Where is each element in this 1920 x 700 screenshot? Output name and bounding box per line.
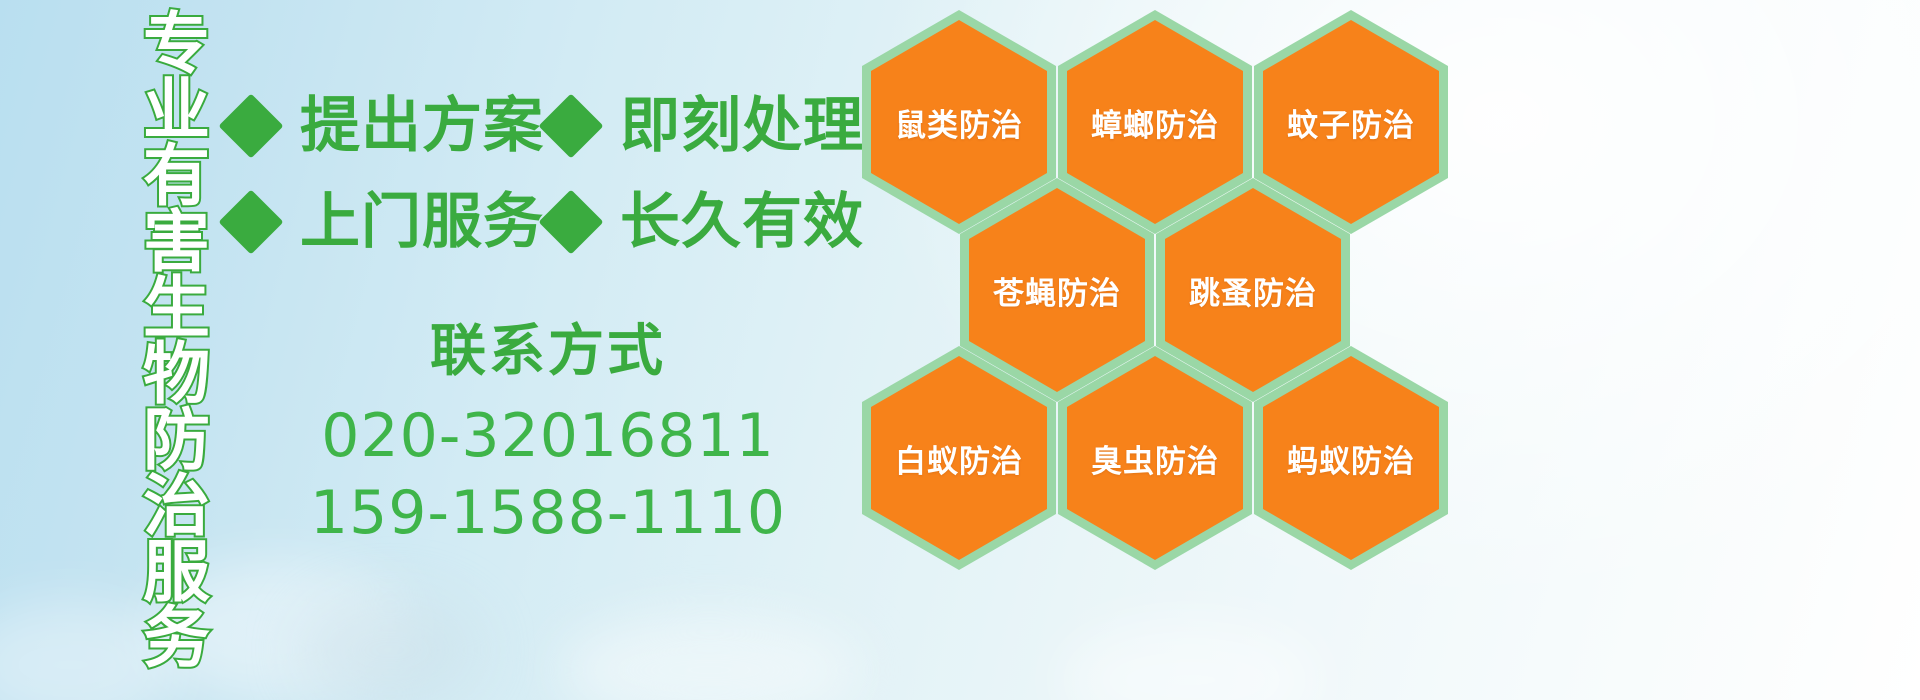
diamond-bullet-icon [538, 93, 603, 158]
contact-block: 联系方式 020-32016811 159-1588-1110 [228, 320, 868, 552]
background-bokeh-blob [300, 595, 480, 700]
hex-label: 鼠类防治 [895, 100, 1023, 145]
feature-label: 上门服务 [300, 192, 544, 252]
background-bokeh-blob [560, 615, 860, 700]
feature-item-immediate-treatment: 即刻处理 [548, 96, 864, 156]
hex-label: 蚂蚁防治 [1287, 436, 1415, 481]
feature-row: 上门服务 长久有效 [228, 174, 878, 270]
pest-control-banner: 专业有害生物防治服务 提出方案 即刻处理 上门服务 长久有效 联系方式 [0, 0, 1920, 700]
feature-item-propose-plan: 提出方案 [228, 96, 548, 156]
hex-label: 跳蚤防治 [1189, 268, 1317, 313]
hex-label: 蟑螂防治 [1091, 100, 1219, 145]
contact-title: 联系方式 [228, 320, 868, 384]
feature-row: 提出方案 即刻处理 [228, 78, 878, 174]
hex-label: 苍蝇防治 [993, 268, 1121, 313]
hex-label: 白蚁防治 [895, 436, 1023, 481]
feature-label: 长久有效 [620, 192, 864, 252]
contact-mobile-number[interactable]: 159-1588-1110 [228, 475, 868, 552]
diamond-bullet-icon [218, 93, 283, 158]
feature-label: 即刻处理 [620, 96, 864, 156]
feature-item-long-lasting: 长久有效 [548, 192, 864, 252]
feature-label: 提出方案 [300, 96, 544, 156]
feature-item-onsite-service: 上门服务 [228, 192, 548, 252]
feature-list: 提出方案 即刻处理 上门服务 长久有效 [228, 78, 878, 270]
hex-label: 蚊子防治 [1287, 100, 1415, 145]
service-hexagon-grid: 鼠类防治 蟑螂防治 蚊子防治 苍蝇防治 跳蚤防治 白蚁防治 臭虫防治 [862, 0, 1462, 700]
hex-label: 臭虫防治 [1091, 436, 1219, 481]
vertical-headline: 专业有害生物防治服务 [112, 8, 204, 698]
contact-landline-number[interactable]: 020-32016811 [228, 398, 868, 475]
diamond-bullet-icon [538, 189, 603, 254]
diamond-bullet-icon [218, 189, 283, 254]
